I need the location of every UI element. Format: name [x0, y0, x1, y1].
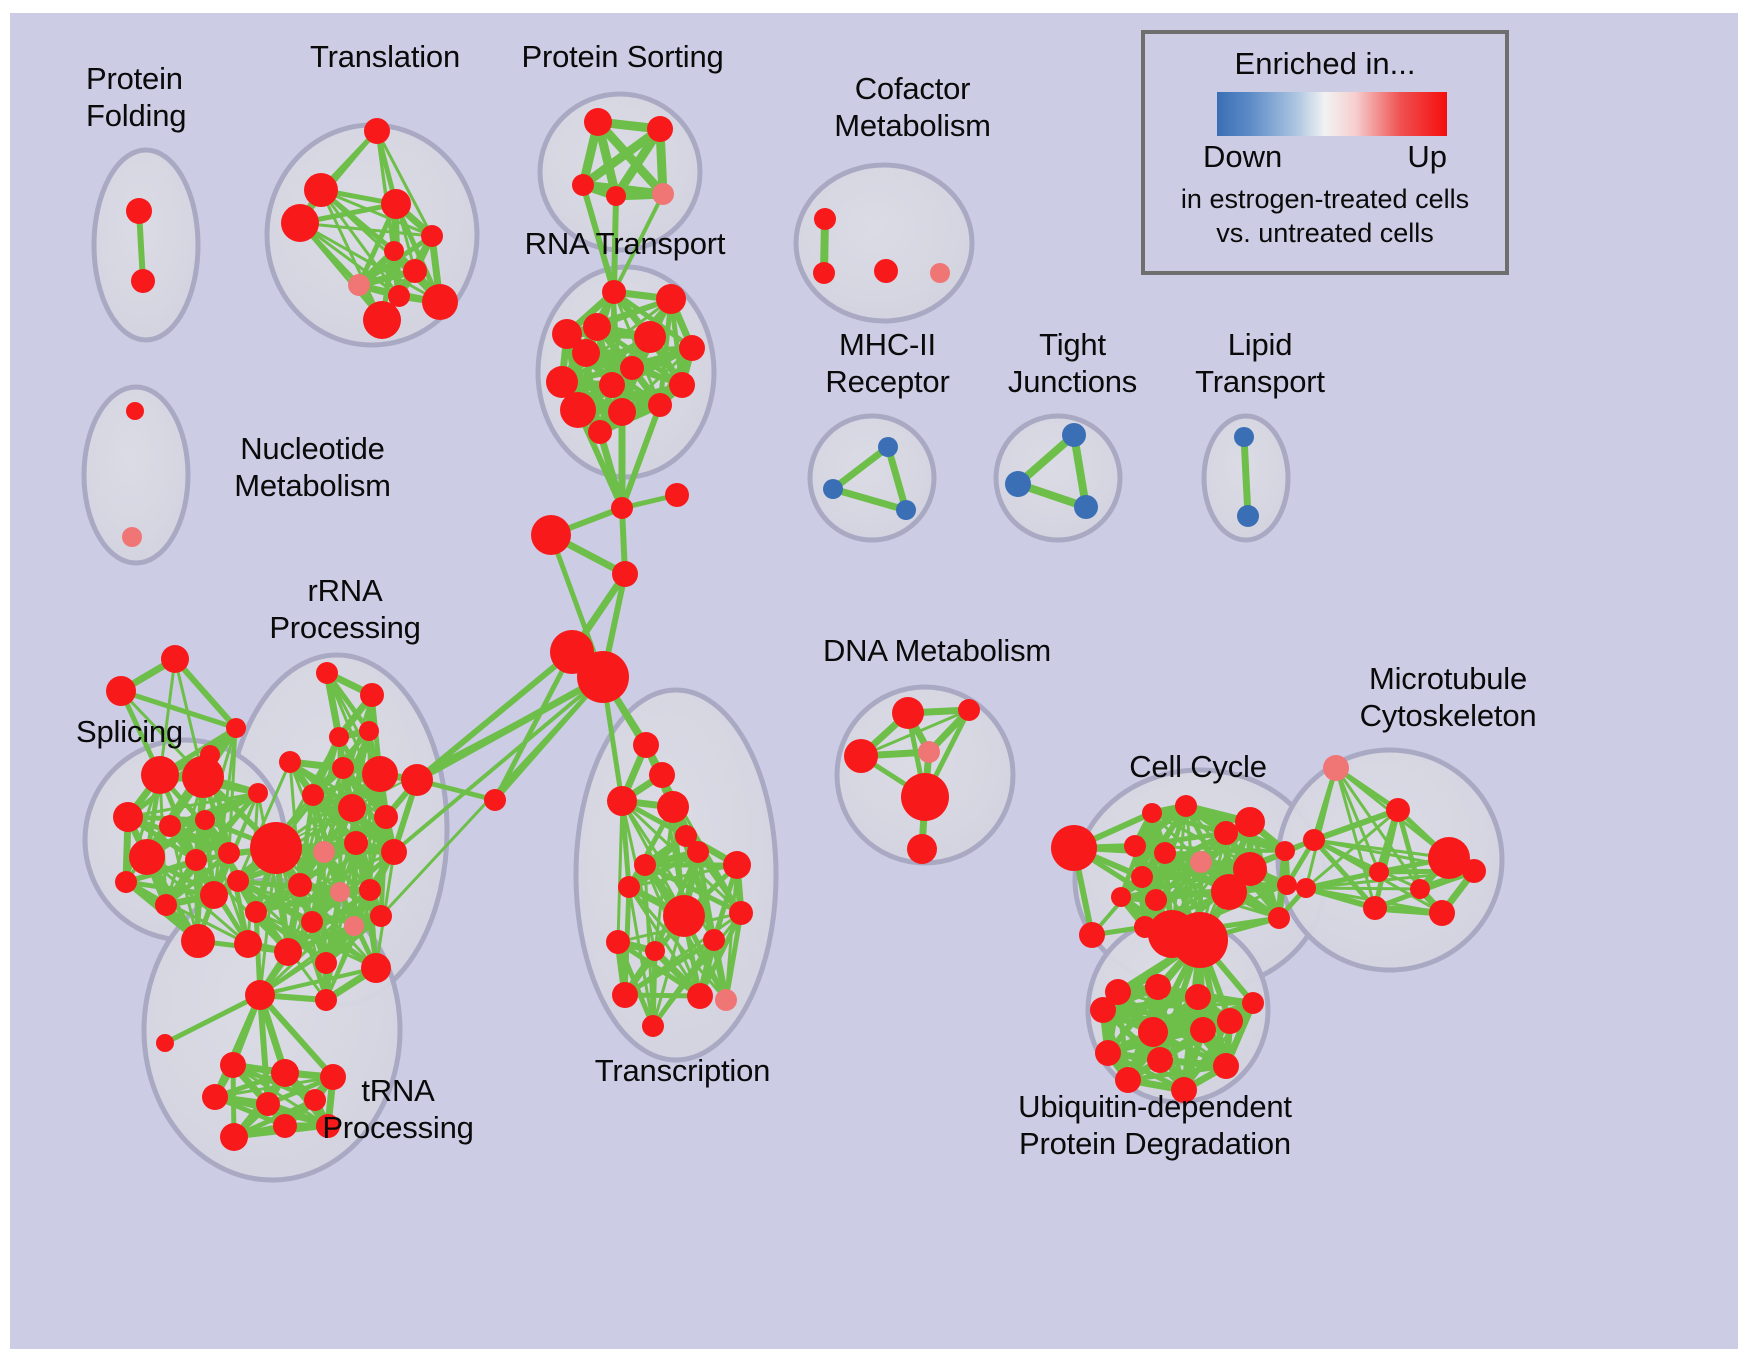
network-node	[348, 274, 370, 296]
network-node	[320, 1064, 346, 1090]
network-node	[363, 301, 401, 339]
network-node	[381, 189, 411, 219]
network-node	[1323, 755, 1349, 781]
network-node	[649, 762, 675, 788]
network-edge	[417, 652, 572, 780]
cluster-hull-mhc_ii_receptor	[810, 416, 934, 540]
legend-panel: Enriched in... Down Up in estrogen-treat…	[1141, 30, 1509, 275]
network-node	[1111, 887, 1131, 907]
network-node	[918, 741, 940, 763]
network-node	[1175, 795, 1197, 817]
network-node	[607, 786, 637, 816]
network-node	[301, 911, 323, 933]
network-node	[584, 108, 612, 136]
network-node	[602, 280, 626, 304]
network-node	[421, 225, 443, 247]
network-node	[1154, 842, 1176, 864]
network-node	[155, 894, 177, 916]
network-node	[1462, 859, 1486, 883]
network-node	[403, 259, 427, 283]
network-node	[202, 1084, 228, 1110]
network-node	[1145, 889, 1167, 911]
network-node	[823, 479, 843, 499]
network-node	[122, 527, 142, 547]
network-node	[583, 313, 611, 341]
network-node	[185, 849, 207, 871]
network-node	[665, 483, 689, 507]
network-node	[1185, 984, 1211, 1010]
network-node	[958, 699, 980, 721]
network-node	[1429, 900, 1455, 926]
network-node	[182, 756, 224, 798]
network-node	[620, 356, 644, 380]
network-node	[814, 208, 836, 230]
network-node	[647, 116, 673, 142]
network-node	[1277, 875, 1297, 895]
network-node	[687, 983, 713, 1009]
network-node	[1147, 1047, 1173, 1073]
network-edge	[614, 196, 616, 292]
network-node	[316, 662, 338, 684]
network-node	[329, 727, 349, 747]
network-node	[675, 825, 697, 847]
network-node	[648, 393, 672, 417]
network-node	[344, 916, 364, 936]
network-node	[374, 805, 398, 829]
network-node	[1095, 1040, 1121, 1066]
network-node	[359, 879, 381, 901]
network-node	[245, 980, 275, 1010]
network-node	[131, 269, 155, 293]
network-node	[1369, 862, 1389, 882]
network-node	[642, 1015, 664, 1037]
network-node	[1214, 821, 1238, 845]
network-node	[220, 1123, 248, 1151]
network-node	[271, 1059, 299, 1087]
network-node	[126, 198, 152, 224]
network-node	[156, 1034, 174, 1052]
network-node	[560, 392, 596, 428]
network-node	[362, 756, 398, 792]
network-node	[656, 284, 686, 314]
network-node	[279, 751, 301, 773]
network-node	[572, 174, 594, 196]
network-node	[657, 791, 689, 823]
network-node	[281, 204, 319, 242]
network-node	[1142, 803, 1162, 823]
network-node	[1275, 841, 1295, 861]
network-node	[606, 186, 626, 206]
network-node	[896, 500, 916, 520]
network-node	[729, 901, 753, 925]
network-node	[195, 810, 215, 830]
network-node	[484, 789, 506, 811]
network-node	[220, 1052, 246, 1078]
network-node	[344, 831, 368, 855]
network-node	[113, 802, 143, 832]
network-node	[652, 183, 674, 205]
network-node	[273, 1114, 297, 1138]
network-node	[1051, 825, 1097, 871]
network-node	[874, 259, 898, 283]
network-node	[359, 721, 379, 741]
network-node	[129, 839, 165, 875]
network-node	[1115, 1067, 1141, 1093]
network-node	[703, 929, 725, 951]
network-node	[288, 873, 312, 897]
network-node	[1386, 798, 1410, 822]
network-node	[360, 683, 384, 707]
network-node	[1217, 1008, 1243, 1034]
network-node	[1268, 907, 1290, 929]
network-node	[381, 839, 407, 865]
network-node	[645, 941, 665, 961]
network-node	[599, 372, 625, 398]
network-node	[302, 784, 324, 806]
network-node	[141, 756, 179, 794]
network-node	[531, 515, 571, 555]
network-node	[248, 783, 268, 803]
network-node	[907, 834, 937, 864]
network-node	[200, 881, 228, 909]
network-node	[338, 794, 366, 822]
network-node	[106, 676, 136, 706]
network-node	[126, 402, 144, 420]
network-node	[588, 420, 612, 444]
network-node	[844, 739, 878, 773]
network-node	[332, 757, 354, 779]
legend-down-label: Down	[1203, 139, 1282, 175]
cluster-hull-protein_folding	[94, 150, 198, 340]
network-node	[1145, 974, 1171, 1000]
network-node	[1234, 427, 1254, 447]
network-node	[611, 497, 633, 519]
network-node	[901, 773, 949, 821]
network-node	[813, 262, 835, 284]
network-node	[892, 697, 924, 729]
network-node	[250, 822, 302, 874]
network-node	[361, 953, 391, 983]
network-node	[401, 764, 433, 796]
network-node	[577, 651, 629, 703]
network-node	[612, 982, 638, 1008]
legend-color-bar	[1217, 92, 1447, 136]
network-node	[1296, 878, 1316, 898]
network-node	[612, 561, 638, 587]
network-node	[218, 842, 240, 864]
network-node	[669, 372, 695, 398]
network-node	[1190, 1017, 1216, 1043]
network-node	[364, 118, 390, 144]
network-node	[634, 321, 666, 353]
network-node	[159, 815, 181, 837]
network-node	[1138, 1017, 1168, 1047]
network-node	[723, 851, 751, 879]
network-node	[1410, 879, 1430, 899]
network-node	[679, 335, 705, 361]
network-node	[634, 854, 656, 876]
network-node	[315, 989, 337, 1011]
network-edge	[653, 951, 655, 1026]
network-node	[572, 339, 600, 367]
network-node	[313, 841, 335, 863]
network-node	[1237, 505, 1259, 527]
network-node	[304, 173, 338, 207]
network-node	[316, 1114, 340, 1138]
network-node	[606, 930, 630, 954]
network-node	[1363, 896, 1387, 920]
network-node	[330, 882, 350, 902]
cluster-hull-protein_sorting	[540, 94, 700, 250]
network-node	[226, 718, 246, 738]
network-node	[715, 989, 737, 1011]
enrichment-map-figure: Protein FoldingTranslationProtein Sortin…	[0, 0, 1750, 1360]
network-node	[1090, 997, 1116, 1023]
network-node	[370, 905, 392, 927]
network-node	[1211, 874, 1247, 910]
network-node	[1148, 910, 1196, 958]
network-node	[1213, 1053, 1239, 1079]
network-node	[618, 876, 640, 898]
network-node	[608, 398, 636, 426]
legend-up-label: Up	[1407, 139, 1447, 175]
network-node	[315, 952, 337, 974]
network-node	[1242, 992, 1264, 1014]
network-node	[161, 645, 189, 673]
network-node	[1235, 807, 1265, 837]
legend-title: Enriched in...	[1145, 46, 1505, 82]
network-node	[663, 895, 705, 937]
network-node	[1303, 829, 1325, 851]
network-edge	[1306, 888, 1420, 889]
network-node	[1131, 866, 1153, 888]
network-node	[1074, 495, 1098, 519]
network-edge	[1165, 851, 1285, 853]
network-node	[304, 1089, 326, 1111]
network-node	[633, 732, 659, 758]
network-node	[227, 870, 249, 892]
network-node	[1190, 851, 1212, 873]
legend-subtitle-line-2: vs. untreated cells	[1145, 218, 1505, 249]
legend-subtitle-line-1: in estrogen-treated cells	[1145, 184, 1505, 215]
network-node	[245, 901, 267, 923]
network-node	[1005, 471, 1031, 497]
network-node	[1171, 1077, 1197, 1103]
network-node	[234, 930, 262, 958]
network-node	[1124, 835, 1146, 857]
network-edge	[1244, 437, 1248, 516]
network-node	[930, 263, 950, 283]
network-node	[115, 871, 137, 893]
network-node	[275, 939, 301, 965]
network-node	[181, 924, 215, 958]
network-node	[1079, 922, 1105, 948]
network-node	[422, 284, 458, 320]
network-node	[256, 1092, 280, 1116]
network-node	[878, 437, 898, 457]
network-node	[384, 241, 404, 261]
network-node	[1062, 423, 1086, 447]
